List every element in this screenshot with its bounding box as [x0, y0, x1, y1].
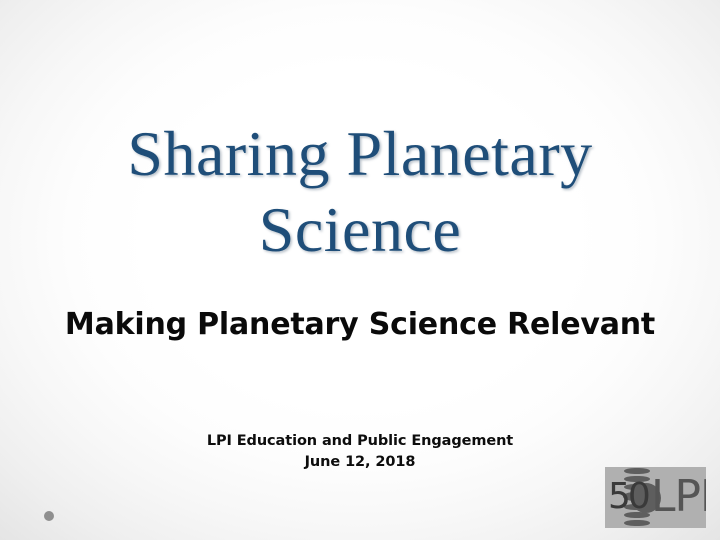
presentation-slide: Sharing Planetary Science Making Planeta…: [0, 0, 720, 540]
anniversary-number: 50: [608, 479, 648, 515]
footer-date: June 12, 2018: [60, 452, 660, 473]
lpi-wordmark: LPI: [651, 474, 706, 520]
bullet-dot-icon: [44, 511, 54, 521]
slide-footer: LPI Education and Public Engagement June…: [60, 431, 660, 473]
ring-band: [624, 468, 650, 474]
footer-organization: LPI Education and Public Engagement: [60, 431, 660, 452]
slide-subtitle: Making Planetary Science Relevant: [36, 306, 684, 344]
lpi-logo-image: 50 LPI: [605, 467, 706, 528]
slide-title: Sharing Planetary Science: [36, 116, 684, 268]
title-line-1: Sharing Planetary: [36, 116, 684, 192]
title-line-2: Science: [36, 192, 684, 268]
ring-band: [624, 520, 650, 526]
